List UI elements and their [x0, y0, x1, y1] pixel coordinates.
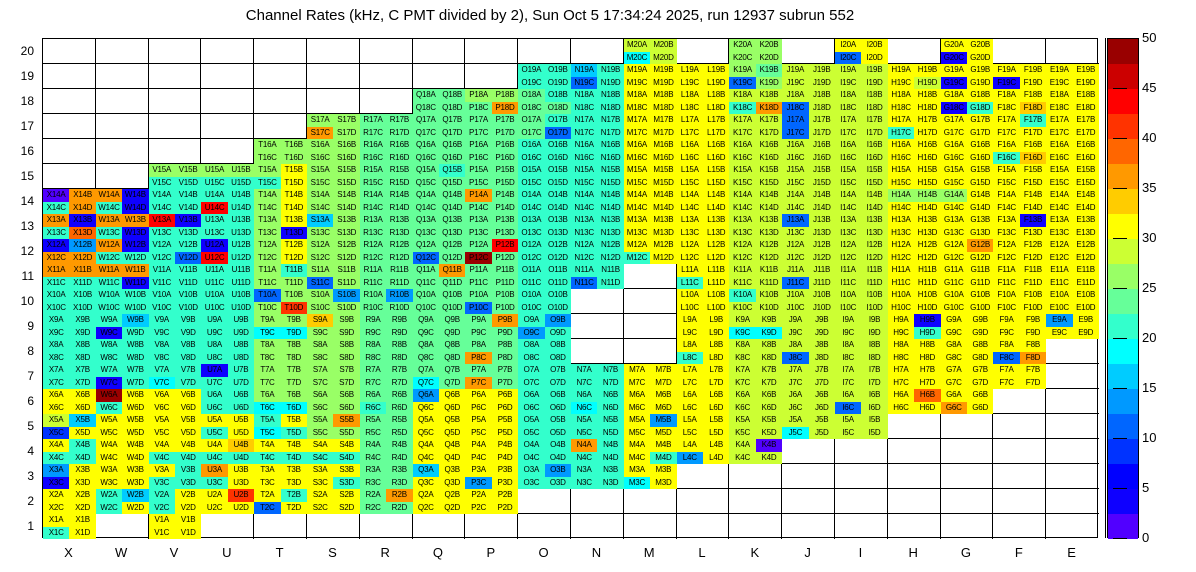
grid-cell-J20: [782, 39, 835, 64]
channel-L8C: L8C: [677, 352, 703, 365]
grid-cell-R12: R12AR12BR12CR12D: [360, 239, 413, 264]
channel-L6B: L6B: [703, 389, 729, 402]
channel-F18C: F18C: [993, 102, 1019, 115]
grid-cell-N16: N16AN16BN16CN16D: [571, 139, 624, 164]
channel-E17C: E17C: [1046, 127, 1072, 140]
channel-I16D: I16D: [861, 152, 887, 165]
channel-Q15B: Q15B: [439, 164, 465, 177]
channel-S10C: S10C: [307, 302, 333, 315]
channel-O8A: O8A: [518, 339, 544, 352]
channel-F8C: F8C: [993, 352, 1019, 365]
channel-T4C: T4C: [254, 452, 280, 465]
channel-M15B: M15B: [650, 164, 676, 177]
colorbar-tick-label-45: 45: [1142, 81, 1156, 94]
channel-I10D: I10D: [861, 302, 887, 315]
channel-K14B: K14B: [756, 189, 782, 202]
channel-I8C: I8C: [835, 352, 861, 365]
channel-R13D: R13D: [386, 227, 412, 240]
grid-cell-I6: I6AI6BI6CI6D: [835, 389, 888, 414]
channel-P17C: P17C: [465, 127, 491, 140]
channel-S9B: S9B: [333, 314, 359, 327]
colorbar-band-10: [1108, 264, 1138, 289]
grid-cell-O18: O18AO18BO18CO18D: [518, 89, 571, 114]
channel-V15C: V15C: [149, 177, 175, 190]
channel-G14C: G14C: [941, 202, 967, 215]
channel-T5A: T5A: [254, 414, 280, 427]
channel-E13C: E13C: [1046, 227, 1072, 240]
colorbar-band-16: [1108, 114, 1138, 139]
grid-cell-S7: S7AS7BS7CS7D: [307, 364, 360, 389]
channel-O8C: O8C: [518, 352, 544, 365]
channel-P7B: P7B: [492, 364, 518, 377]
channel-P13D: P13D: [492, 227, 518, 240]
grid-cell-X10: X10AX10BX10CX10D: [43, 289, 96, 314]
channel-H14A: H14A: [888, 189, 914, 202]
grid-cell-H19: H19AH19BH19CH19D: [888, 64, 941, 89]
channel-E11C: E11C: [1046, 277, 1072, 290]
grid-cell-O3: O3AO3BO3CO3D: [518, 464, 571, 489]
channel-S10B: S10B: [333, 289, 359, 302]
channel-R17D: R17D: [386, 127, 412, 140]
channel-V7D: V7D: [175, 377, 201, 390]
grid-cell-O7: O7AO7BO7CO7D: [518, 364, 571, 389]
grid-cell-U19: [201, 64, 254, 89]
channel-U8B: U8B: [228, 339, 254, 352]
grid-cell-E5: [1046, 414, 1099, 439]
grid-cell-V2: V2AV2BV2CV2D: [149, 489, 202, 514]
channel-G6C: G6C: [941, 402, 967, 415]
grid-cell-W11: W11AW11BW11CW11D: [96, 264, 149, 289]
channel-H9D: H9D: [914, 327, 940, 340]
channel-S3A: S3A: [307, 464, 333, 477]
colorbar-tick-0: [1113, 538, 1127, 539]
channel-R10A: R10A: [360, 289, 386, 302]
channel-J18B: J18B: [809, 89, 835, 102]
channel-E12A: E12A: [1046, 239, 1072, 252]
channel-G10D: G10D: [967, 302, 993, 315]
page-title: Channel Rates (kHz, C PMT divided by 2),…: [0, 7, 1100, 24]
channel-R11C: R11C: [360, 277, 386, 290]
grid-cell-W1: [96, 514, 149, 539]
colorbar-tick-label-10: 10: [1142, 431, 1156, 444]
grid-cell-K2: [729, 489, 782, 514]
channel-W6B: W6B: [122, 389, 148, 402]
channel-L15A: L15A: [677, 164, 703, 177]
channel-O10B: O10B: [545, 289, 571, 302]
grid-cell-M8: [624, 339, 677, 364]
grid-cell-N2: [571, 489, 624, 514]
grid-cell-V4: V4AV4BV4CV4D: [149, 439, 202, 464]
channel-H12C: H12C: [888, 252, 914, 265]
channel-S13B: S13B: [333, 214, 359, 227]
channel-L11A: L11A: [677, 264, 703, 277]
grid-cell-J9: J9AJ9BJ9CJ9D: [782, 314, 835, 339]
channel-F10C: F10C: [993, 302, 1019, 315]
grid-cell-I17: I17AI17BI17CI17D: [835, 114, 888, 139]
channel-V8C: V8C: [149, 352, 175, 365]
channel-P9A: P9A: [465, 314, 491, 327]
channel-T6B: T6B: [281, 389, 307, 402]
channel-O4B: O4B: [545, 439, 571, 452]
channel-J8B: J8B: [809, 339, 835, 352]
channel-K6D: K6D: [756, 402, 782, 415]
grid-cell-G7: G7AG7BG7CG7D: [941, 364, 994, 389]
channel-J19A: J19A: [782, 64, 808, 77]
channel-U4D: U4D: [228, 452, 254, 465]
grid-cell-E20: [1046, 39, 1099, 64]
channel-W9A: W9A: [96, 314, 122, 327]
channel-O18B: O18B: [545, 89, 571, 102]
grid-cell-Q2: Q2AQ2BQ2CQ2D: [413, 489, 466, 514]
channel-K20A: K20A: [729, 39, 755, 52]
channel-U5C: U5C: [201, 427, 227, 440]
channel-P4D: P4D: [492, 452, 518, 465]
channel-L14A: L14A: [677, 189, 703, 202]
channel-W3C: W3C: [96, 477, 122, 490]
channel-W5A: W5A: [96, 414, 122, 427]
channel-U15D: U15D: [228, 177, 254, 190]
colorbar-tick-label-50: 50: [1142, 31, 1156, 44]
channel-L11D: L11D: [703, 277, 729, 290]
y-tick-label-5: 5: [0, 420, 34, 432]
channel-H8D: H8D: [914, 352, 940, 365]
channel-E14C: E14C: [1046, 202, 1072, 215]
channel-W11C: W11C: [96, 277, 122, 290]
channel-V14B: V14B: [175, 189, 201, 202]
channel-N11A: N11A: [571, 264, 597, 277]
channel-X4A: X4A: [43, 439, 69, 452]
channel-E19C: E19C: [1046, 77, 1072, 90]
grid-cell-I4: [835, 439, 888, 464]
channel-J5D: J5D: [809, 427, 835, 440]
colorbar-band-17: [1108, 89, 1138, 114]
grid-cell-P8: P8AP8BP8CP8D: [465, 339, 518, 364]
channel-H12D: H12D: [914, 252, 940, 265]
channel-K7C: K7C: [729, 377, 755, 390]
grid-cell-E7: [1046, 364, 1099, 389]
channel-H6D: H6D: [914, 402, 940, 415]
channel-X4D: X4D: [69, 452, 95, 465]
channel-O16C: O16C: [518, 152, 544, 165]
channel-N16B: N16B: [597, 139, 623, 152]
channel-P2C: P2C: [465, 502, 491, 515]
channel-I14A: I14A: [835, 189, 861, 202]
channel-V11C: V11C: [149, 277, 175, 290]
grid-cell-P14: P14AP14BP14CP14D: [465, 189, 518, 214]
grid-cell-U11: U11AU11BU11CU11D: [201, 264, 254, 289]
grid-cell-R20: [360, 39, 413, 64]
y-tick-label-2: 2: [0, 495, 34, 507]
channel-P15B: P15B: [492, 164, 518, 177]
channel-R8C: R8C: [360, 352, 386, 365]
channel-X7C: X7C: [43, 377, 69, 390]
channel-T14B: T14B: [281, 189, 307, 202]
channel-I15A: I15A: [835, 164, 861, 177]
grid-cell-Q5: Q5AQ5BQ5CQ5D: [413, 414, 466, 439]
grid-cell-E1: [1046, 514, 1099, 539]
grid-cell-V5: V5AV5BV5CV5D: [149, 414, 202, 439]
channel-V14A: V14A: [149, 189, 175, 202]
channel-L17A: L17A: [677, 114, 703, 127]
channel-T12C: T12C: [254, 252, 280, 265]
channel-G9D: G9D: [967, 327, 993, 340]
channel-V10B: V10B: [175, 289, 201, 302]
grid-cell-P12: P12AP12BP12CP12D: [465, 239, 518, 264]
channel-M17C: M17C: [624, 127, 650, 140]
channel-H11B: H11B: [914, 264, 940, 277]
grid-cell-L2: [677, 489, 730, 514]
grid-cell-U5: U5AU5BU5CU5D: [201, 414, 254, 439]
grid-cell-N10: [571, 289, 624, 314]
grid-cell-Q7: Q7AQ7BQ7CQ7D: [413, 364, 466, 389]
grid-cell-K7: K7AK7BK7CK7D: [729, 364, 782, 389]
channel-E17A: E17A: [1046, 114, 1072, 127]
channel-F14D: F14D: [1020, 202, 1046, 215]
channel-M18D: M18D: [650, 102, 676, 115]
channel-V7B: V7B: [175, 364, 201, 377]
channel-Q13A: Q13A: [413, 214, 439, 227]
grid-cell-I13: I13AI13BI13CI13D: [835, 214, 888, 239]
grid-cell-L14: L14AL14BL14CL14D: [677, 189, 730, 214]
channel-M13A: M13A: [624, 214, 650, 227]
channel-R4B: R4B: [386, 439, 412, 452]
y-tick-label-18: 18: [0, 95, 34, 107]
grid-cell-S3: S3AS3BS3CS3D: [307, 464, 360, 489]
grid-cell-I5: I5AI5BI5CI5D: [835, 414, 888, 439]
channel-G6D: G6D: [967, 402, 993, 415]
channel-O16A: O16A: [518, 139, 544, 152]
channel-Q12D: Q12D: [439, 252, 465, 265]
channel-S6C: S6C: [307, 402, 333, 415]
channel-F18B: F18B: [1020, 89, 1046, 102]
channel-K15D: K15D: [756, 177, 782, 190]
grid-cell-G10: G10AG10BG10CG10D: [941, 289, 994, 314]
channel-J15B: J15B: [809, 164, 835, 177]
channel-N15C: N15C: [571, 177, 597, 190]
channel-S13A: S13A: [307, 214, 333, 227]
channel-K5B: K5B: [756, 414, 782, 427]
colorbar-band-1: [1108, 489, 1138, 514]
channel-H16D: H16D: [914, 152, 940, 165]
channel-V1B: V1B: [175, 514, 201, 527]
grid-cell-Q20: [413, 39, 466, 64]
grid-cell-H11: H11AH11BH11CH11D: [888, 264, 941, 289]
channel-O8B: O8B: [545, 339, 571, 352]
grid-cell-K4: K4AK4BK4CK4D: [729, 439, 782, 464]
channel-F9A: F9A: [993, 314, 1019, 327]
channel-W3D: W3D: [122, 477, 148, 490]
grid-cell-S13: S13AS13BS13CS13D: [307, 214, 360, 239]
grid-cell-H5: [888, 414, 941, 439]
channel-U6C: U6C: [201, 402, 227, 415]
channel-V12D: V12D: [175, 252, 201, 265]
channel-H16A: H16A: [888, 139, 914, 152]
grid-cell-L10: L10AL10BL10CL10D: [677, 289, 730, 314]
channel-W12C: W12C: [96, 252, 122, 265]
channel-M3A: M3A: [624, 464, 650, 477]
colorbar-band-8: [1108, 314, 1138, 339]
channel-R14A: R14A: [360, 189, 386, 202]
channel-T6A: T6A: [254, 389, 280, 402]
grid-cell-O5: O5AO5BO5CO5D: [518, 414, 571, 439]
channel-T5B: T5B: [281, 414, 307, 427]
channel-S14C: S14C: [307, 202, 333, 215]
grid-cell-G20: G20AG20BG20CG20D: [941, 39, 994, 64]
channel-N13A: N13A: [571, 214, 597, 227]
channel-J7A: J7A: [782, 364, 808, 377]
channel-L4A: L4A: [677, 439, 703, 452]
channel-H9B: H9B: [914, 314, 940, 327]
channel-M4A: M4A: [624, 439, 650, 452]
channel-W5B: W5B: [122, 414, 148, 427]
channel-N13D: N13D: [597, 227, 623, 240]
channel-G12C: G12C: [941, 252, 967, 265]
channel-E18A: E18A: [1046, 89, 1072, 102]
channel-L14B: L14B: [703, 189, 729, 202]
channel-F12D: F12D: [1020, 252, 1046, 265]
channel-X8B: X8B: [69, 339, 95, 352]
grid-cell-R9: R9AR9BR9CR9D: [360, 314, 413, 339]
channel-J15C: J15C: [782, 177, 808, 190]
channel-Q14D: Q14D: [439, 202, 465, 215]
channel-K10C: K10C: [729, 302, 755, 315]
grid-cell-L19: L19AL19BL19CL19D: [677, 64, 730, 89]
channel-G11B: G11B: [967, 264, 993, 277]
channel-R4D: R4D: [386, 452, 412, 465]
channel-J17A: J17A: [782, 114, 808, 127]
channel-Q15D: Q15D: [439, 177, 465, 190]
channel-R15C: R15C: [360, 177, 386, 190]
channel-O10D: O10D: [545, 302, 571, 315]
channel-I19C: I19C: [835, 77, 861, 90]
channel-T11B: T11B: [281, 264, 307, 277]
grid-cell-R19: [360, 64, 413, 89]
channel-P3B: P3B: [492, 464, 518, 477]
channel-S16D: S16D: [333, 152, 359, 165]
channel-S16C: S16C: [307, 152, 333, 165]
channel-H19A: H19A: [888, 64, 914, 77]
channel-W10C: W10C: [96, 302, 122, 315]
channel-F17B: F17B: [1020, 114, 1046, 127]
channel-T13D: T13D: [281, 227, 307, 240]
channel-W11D: W11D: [122, 277, 148, 290]
channel-F11D: F11D: [1020, 277, 1046, 290]
channel-P16A: P16A: [465, 139, 491, 152]
grid-cell-U4: U4AU4BU4CU4D: [201, 439, 254, 464]
channel-G9B: G9B: [967, 314, 993, 327]
grid-cell-F20: [993, 39, 1046, 64]
grid-cell-L18: L18AL18BL18CL18D: [677, 89, 730, 114]
channel-E10B: E10B: [1073, 289, 1099, 302]
channel-U15C: U15C: [201, 177, 227, 190]
y-tick-label-6: 6: [0, 395, 34, 407]
grid-cell-H8: H8AH8BH8CH8D: [888, 339, 941, 364]
channel-P12D: P12D: [492, 252, 518, 265]
grid-cell-M5: M5AM5BM5CM5D: [624, 414, 677, 439]
channel-X10B: X10B: [69, 289, 95, 302]
channel-P14C: P14C: [465, 202, 491, 215]
grid-cell-S5: S5AS5BS5CS5D: [307, 414, 360, 439]
grid-cell-U16: [201, 139, 254, 164]
channel-V14D: V14D: [175, 202, 201, 215]
channel-I13A: I13A: [835, 214, 861, 227]
channel-H6C: H6C: [888, 402, 914, 415]
channel-G7A: G7A: [941, 364, 967, 377]
channel-P12A: P12A: [465, 239, 491, 252]
channel-I14D: I14D: [861, 202, 887, 215]
grid-cell-F7: F7AF7BF7CF7D: [993, 364, 1046, 389]
channel-M13B: M13B: [650, 214, 676, 227]
grid-cell-Q14: Q14AQ14BQ14CQ14D: [413, 189, 466, 214]
channel-L12B: L12B: [703, 239, 729, 252]
channel-X11A: X11A: [43, 264, 69, 277]
colorbar-tick-15: [1113, 388, 1127, 389]
channel-F19D: F19D: [1020, 77, 1046, 90]
channel-S4D: S4D: [333, 452, 359, 465]
colorbar-band-18: [1108, 64, 1138, 89]
channel-O13D: O13D: [545, 227, 571, 240]
grid-cell-H15: H15AH15BH15CH15D: [888, 164, 941, 189]
channel-U7C: U7C: [201, 377, 227, 390]
channel-O11A: O11A: [518, 264, 544, 277]
channel-S13D: S13D: [333, 227, 359, 240]
grid-cell-Q15: Q15AQ15BQ15CQ15D: [413, 164, 466, 189]
channel-M18A: M18A: [624, 89, 650, 102]
channel-T11A: T11A: [254, 264, 280, 277]
grid-cell-O20: [518, 39, 571, 64]
grid-cell-I12: I12AI12BI12CI12D: [835, 239, 888, 264]
channel-Q4B: Q4B: [439, 439, 465, 452]
channel-P4C: P4C: [465, 452, 491, 465]
channel-L6D: L6D: [703, 402, 729, 415]
channel-N14D: N14D: [597, 202, 623, 215]
channel-P5B: P5B: [492, 414, 518, 427]
channel-E17B: E17B: [1073, 114, 1099, 127]
channel-U6D: U6D: [228, 402, 254, 415]
channel-G7B: G7B: [967, 364, 993, 377]
channel-O6B: O6B: [545, 389, 571, 402]
channel-W7C: W7C: [96, 377, 122, 390]
channel-I16B: I16B: [861, 139, 887, 152]
channel-Q9B: Q9B: [439, 314, 465, 327]
channel-O5A: O5A: [518, 414, 544, 427]
grid-cell-J7: J7AJ7BJ7CJ7D: [782, 364, 835, 389]
channel-R16D: R16D: [386, 152, 412, 165]
channel-U9D: U9D: [228, 327, 254, 340]
grid-cell-E18: E18AE18BE18CE18D: [1046, 89, 1099, 114]
channel-G20C: G20C: [941, 52, 967, 65]
channel-I5B: I5B: [861, 414, 887, 427]
channel-H19B: H19B: [914, 64, 940, 77]
channel-X13C: X13C: [43, 227, 69, 240]
channel-J7B: J7B: [809, 364, 835, 377]
colorbar-tick-label-15: 15: [1142, 381, 1156, 394]
colorbar-band-6: [1108, 364, 1138, 389]
grid-cell-L9: L9AL9BL9CL9D: [677, 314, 730, 339]
channel-P16C: P16C: [465, 152, 491, 165]
channel-Q11D: Q11D: [439, 277, 465, 290]
colorbar-tick-label-25: 25: [1142, 281, 1156, 294]
grid-cell-Q12: Q12AQ12BQ12CQ12D: [413, 239, 466, 264]
grid-cell-T7: T7AT7BT7CT7D: [254, 364, 307, 389]
grid-cell-F4: [993, 439, 1046, 464]
colorbar-tick-10: [1113, 438, 1127, 439]
x-tick-label-P: P: [464, 546, 517, 560]
grid-cell-E15: E15AE15BE15CE15D: [1046, 164, 1099, 189]
grid-cell-I20: I20AI20BI20CI20D: [835, 39, 888, 64]
channel-H13A: H13A: [888, 214, 914, 227]
channel-O18C: O18C: [518, 102, 544, 115]
